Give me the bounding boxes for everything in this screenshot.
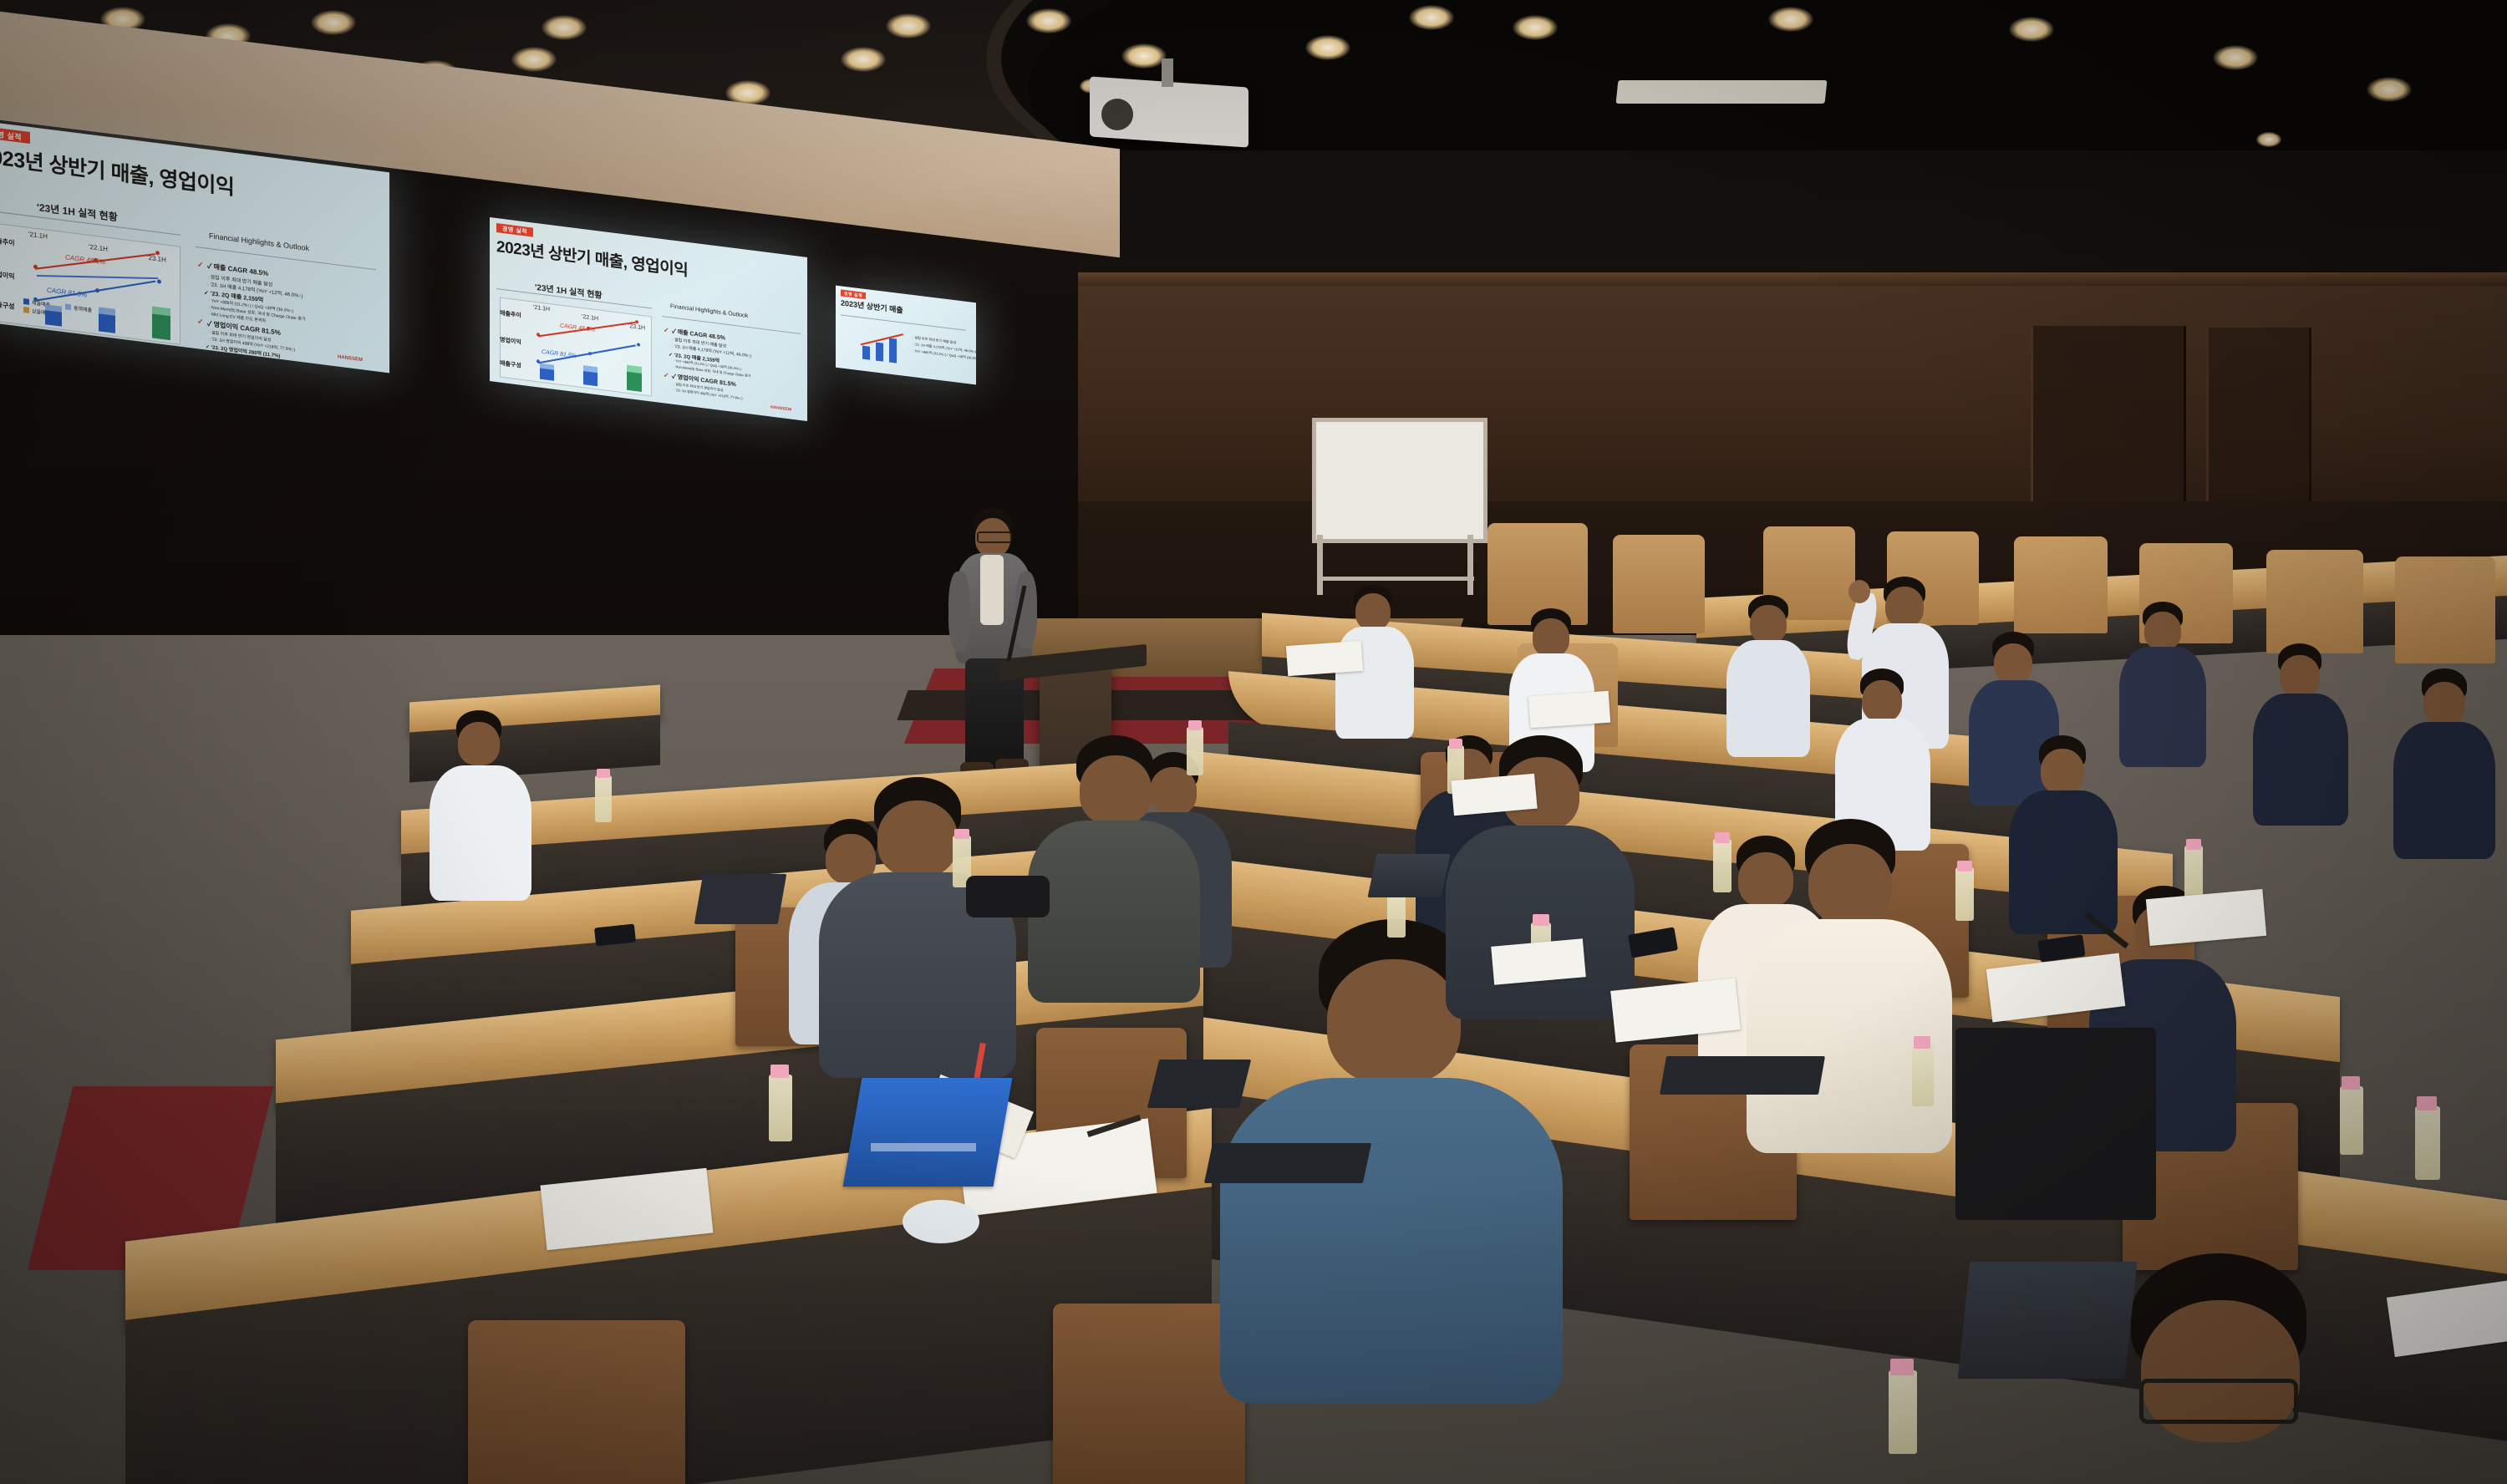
chair[interactable]	[468, 1320, 685, 1484]
water-bottle[interactable]	[2340, 1086, 2363, 1155]
blue-folder[interactable]	[843, 1078, 1013, 1187]
downlight	[1513, 15, 1558, 40]
whiteboard[interactable]	[1312, 418, 1487, 543]
water-bottle[interactable]	[769, 1075, 792, 1141]
bottle-cap	[597, 769, 610, 778]
stacked-bar	[889, 338, 897, 363]
downlight	[1026, 8, 1071, 33]
bottle-cap	[2342, 1076, 2360, 1090]
bottle-cap	[1890, 1359, 1914, 1375]
attendee-head	[877, 800, 958, 877]
legend-swatch	[23, 307, 29, 313]
stacked-bar	[99, 313, 115, 333]
downlight	[1409, 5, 1454, 30]
bottle-cap	[2186, 839, 2201, 850]
data-point	[588, 352, 592, 356]
downlight	[2009, 17, 2054, 42]
face-mask	[903, 1200, 979, 1243]
wall-trim	[1061, 272, 2507, 286]
attendee-torso	[2253, 694, 2348, 826]
attendee-glasses	[2139, 1379, 2298, 1424]
bottle-cap	[2417, 1096, 2437, 1110]
water-bottle[interactable]	[1713, 839, 1732, 892]
downlight	[1768, 7, 1813, 32]
bottle-cap	[1715, 832, 1730, 843]
laptop-screen[interactable]	[1958, 1262, 2138, 1379]
water-bottle[interactable]	[1955, 867, 1974, 921]
attendee	[2390, 668, 2502, 861]
bottle-cap	[1957, 861, 1972, 872]
attendee-torso	[2393, 722, 2495, 859]
document-paper[interactable]	[1451, 774, 1537, 816]
water-bottle[interactable]	[595, 775, 612, 822]
data-point	[536, 333, 540, 337]
data-point	[635, 320, 638, 324]
attendee-head	[1080, 755, 1152, 826]
stacked-bar	[862, 346, 870, 360]
data-point	[637, 343, 640, 347]
downlight	[841, 47, 886, 72]
downlight	[1305, 35, 1350, 60]
attendee-torso	[1220, 1078, 1563, 1404]
data-point	[157, 279, 161, 284]
downlight	[886, 13, 931, 38]
tablet[interactable]	[694, 874, 787, 924]
attendee-head	[2041, 749, 2084, 794]
legend-swatch	[65, 303, 71, 310]
presenter-arm-left	[948, 572, 970, 652]
water-bottle[interactable]	[2415, 1106, 2440, 1180]
attendee-head	[1862, 680, 1902, 722]
ac-vent	[1616, 80, 1828, 104]
stacked-bar	[876, 343, 883, 362]
attendee-head	[1327, 959, 1461, 1085]
attendee-torso	[1028, 821, 1200, 1003]
laptop-screen[interactable]	[1367, 854, 1450, 897]
data-point	[33, 265, 38, 270]
attendee-torso	[1726, 640, 1810, 757]
whiteboard-crossbar	[1317, 577, 1474, 581]
stacked-bar	[627, 371, 642, 392]
chair[interactable]	[2014, 536, 2108, 633]
stacked-bar	[152, 313, 170, 340]
spotlight	[2256, 132, 2281, 147]
bullet-check-icon: ✓	[664, 371, 669, 379]
water-bottle[interactable]	[2184, 846, 2203, 899]
legend-swatch	[23, 298, 29, 305]
bullet-check-icon: ✓	[197, 317, 204, 327]
attendee-head	[1994, 643, 2032, 684]
projector-mount	[1162, 58, 1173, 87]
downlight	[511, 47, 557, 72]
attendee	[2114, 602, 2215, 769]
keyboard[interactable]	[1660, 1056, 1825, 1095]
presenter-shirt	[980, 555, 1004, 625]
downlight	[1121, 43, 1167, 69]
whiteboard-leg	[1317, 535, 1323, 595]
water-bottle[interactable]	[1889, 1370, 1917, 1454]
keyboard[interactable]	[1204, 1143, 1371, 1183]
water-bottle[interactable]	[1187, 727, 1203, 775]
attendee-head	[458, 722, 500, 765]
data-point	[155, 251, 160, 256]
conference-room-photo: 경영 실적 2023년 상반기 매출, 영업이익 '23년 1H 실적 현황 F…	[0, 0, 2507, 1484]
chair[interactable]	[2266, 550, 2363, 653]
document-paper[interactable]	[1286, 641, 1363, 676]
bullet-check-icon: ✓	[664, 326, 669, 334]
document-paper[interactable]	[1528, 691, 1610, 729]
attendee-torso	[430, 765, 531, 901]
attendee-head	[1885, 587, 1924, 627]
bullet-check-icon: ✓	[197, 260, 204, 270]
bag	[966, 876, 1050, 917]
document-paper[interactable]	[1491, 938, 1586, 984]
attendee	[1721, 595, 1818, 759]
attendee-head	[2280, 655, 2320, 697]
attendee-head	[1808, 844, 1892, 924]
attendee-head	[1533, 618, 1569, 657]
attendee-head	[2144, 612, 2181, 650]
chair[interactable]	[1053, 1304, 1245, 1484]
downlight	[2367, 77, 2412, 102]
presenter-glasses	[977, 531, 1012, 543]
attendee	[426, 710, 535, 902]
attendee-head	[2423, 682, 2465, 725]
bottle-cap	[1188, 720, 1202, 730]
whiteboard-leg	[1467, 535, 1473, 595]
attendee-foreground	[1028, 735, 1203, 1003]
attendee-torso	[2119, 647, 2206, 767]
laptop[interactable]	[1147, 1060, 1251, 1108]
attendee	[2248, 643, 2355, 827]
downlight	[2213, 45, 2258, 70]
attendee-head	[1750, 605, 1787, 643]
water-bottle[interactable]	[1912, 1044, 1934, 1106]
attendee-hand	[1848, 580, 1870, 603]
projection-screen-right-small: 경영 실적 2023년 상반기 매출 · 설립 이후 최대 반기 매출 달성 ·…	[836, 286, 976, 385]
downlight	[542, 15, 587, 40]
chair[interactable]	[2395, 556, 2495, 663]
bottle-cap	[1914, 1036, 1930, 1049]
backpack	[1955, 1028, 2156, 1220]
folder-label	[871, 1143, 976, 1151]
bottle-cap	[1533, 914, 1549, 926]
attendee-foreground	[819, 777, 1020, 1078]
bottle-cap	[1449, 739, 1462, 749]
chair[interactable]	[1613, 535, 1705, 633]
attendee-head	[1355, 593, 1391, 630]
bottle-cap	[954, 829, 969, 839]
data-point	[95, 288, 99, 293]
projector-lens	[1101, 99, 1133, 130]
bottle-cap	[770, 1065, 789, 1078]
downlight	[311, 10, 356, 35]
